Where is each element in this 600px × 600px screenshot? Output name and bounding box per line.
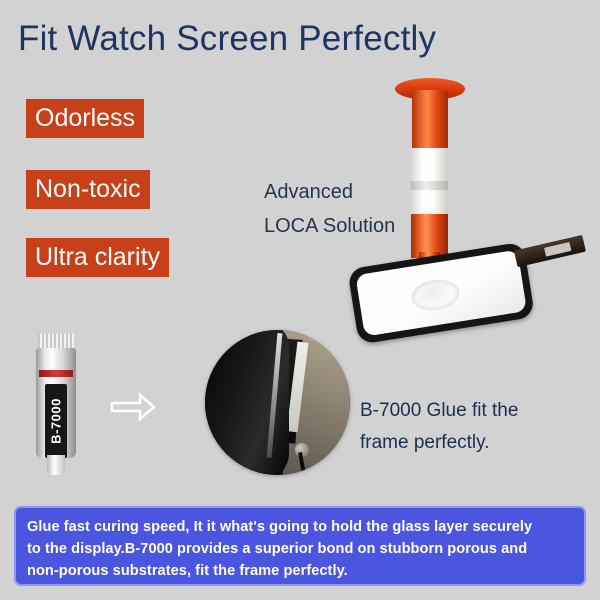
panel-glass-surface	[355, 250, 527, 337]
glue-syringe-icon	[395, 78, 465, 278]
feature-badge-ultra-clarity: Ultra clarity	[26, 238, 169, 277]
caption-line2: frame perfectly.	[360, 427, 575, 459]
syringe-plunger	[412, 90, 448, 152]
right-arrow-icon	[110, 392, 156, 422]
description-line3: non-porous substrates, fit the frame per…	[27, 560, 573, 582]
watch-screen-panel-icon	[347, 237, 561, 344]
tube-label: B-7000	[45, 384, 67, 458]
page-title: Fit Watch Screen Perfectly	[18, 17, 436, 61]
description-box: Glue fast curing speed, It it what's goi…	[14, 506, 586, 586]
flex-cable-chip	[544, 242, 571, 257]
description-line1: Glue fast curing speed, It it what's goi…	[27, 516, 573, 538]
tube-cap	[47, 455, 65, 475]
tube-label-text: B-7000	[49, 398, 64, 444]
glue-fit-caption: B-7000 Glue fit the frame perfectly.	[360, 395, 575, 459]
caption-line1: B-7000 Glue fit the	[360, 395, 575, 427]
feature-badge-non-toxic: Non-toxic	[26, 170, 150, 209]
description-line2: to the display.B-7000 provides a superio…	[27, 538, 573, 560]
loca-label-line2: LOCA Solution	[264, 209, 395, 243]
syringe-barrel	[411, 148, 448, 218]
tube-accent-stripe	[39, 370, 73, 377]
tube-body: B-7000	[36, 348, 76, 458]
loca-solution-label: Advanced LOCA Solution	[264, 175, 395, 243]
frame-closeup-photo	[205, 330, 350, 475]
infographic-canvas: Fit Watch Screen Perfectly Odorless Non-…	[0, 0, 600, 600]
loca-label-line1: Advanced	[264, 175, 395, 209]
glue-drop	[409, 276, 461, 313]
feature-badge-odorless: Odorless	[26, 99, 144, 138]
panel-bezel	[347, 242, 535, 345]
panel-flex-cable	[514, 235, 586, 267]
glue-tube-icon: B-7000	[36, 333, 76, 475]
